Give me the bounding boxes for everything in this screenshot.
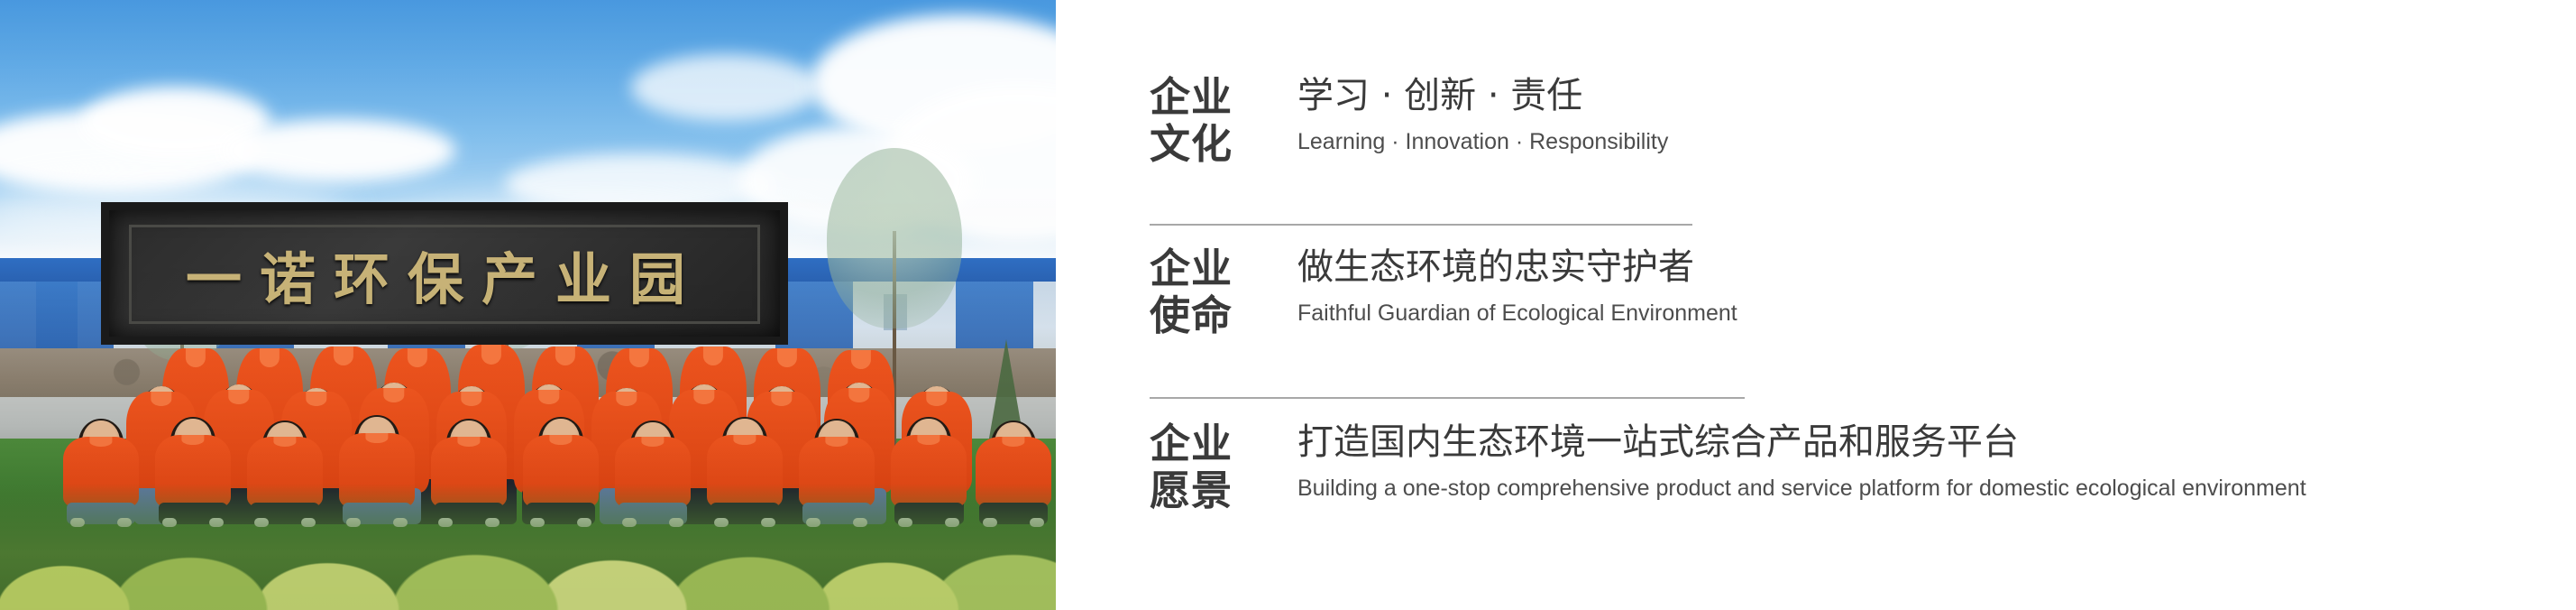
block-label-corporate-mission: 企业 使命 [1150, 245, 1285, 339]
cloud-icon [631, 54, 820, 121]
block-headline-cn: 做生态环境的忠实守护者 [1297, 245, 1737, 290]
employee-group [0, 226, 1056, 523]
block-label-corporate-vision: 企业 愿景 [1150, 421, 1285, 514]
block-text-group: 学习 · 创新 · 责任 Learning · Innovation · Res… [1285, 74, 1668, 158]
culture-text-panel: 企业 文化 学习 · 创新 · 责任 Learning · Innovation… [1056, 0, 2576, 610]
section-divider [1150, 224, 1692, 226]
block-headline-cn: 学习 · 创新 · 责任 [1297, 74, 1668, 118]
block-text-group: 做生态环境的忠实守护者 Faithful Guardian of Ecologi… [1285, 245, 1737, 329]
block-text-group: 打造国内生态环境一站式综合产品和服务平台 Building a one-stop… [1285, 421, 2306, 504]
block-headline-cn: 打造国内生态环境一站式综合产品和服务平台 [1297, 421, 2306, 465]
cloud-icon [221, 119, 455, 182]
section-divider [1150, 397, 1745, 399]
block-headline-en: Learning · Innovation · Responsibility [1297, 127, 1668, 158]
block-headline-en: Building a one-stop comprehensive produc… [1297, 474, 2306, 504]
company-group-photo: 一诺环保产业园 [0, 0, 1056, 610]
culture-blocks: 企业 文化 学习 · 创新 · 责任 Learning · Innovation… [1150, 0, 2576, 610]
photo-scene: 一诺环保产业园 [0, 0, 1056, 610]
culture-block-corporate-mission: 企业 使命 做生态环境的忠实守护者 Faithful Guardian of E… [1150, 245, 1737, 339]
block-headline-en: Faithful Guardian of Ecological Environm… [1297, 299, 1737, 329]
flowering-hedge [0, 484, 1056, 610]
block-label-corporate-culture: 企业 文化 [1150, 74, 1285, 168]
culture-block-corporate-vision: 企业 愿景 打造国内生态环境一站式综合产品和服务平台 Building a on… [1150, 421, 2306, 514]
culture-block-corporate-culture: 企业 文化 学习 · 创新 · 责任 Learning · Innovation… [1150, 74, 1668, 168]
corporate-culture-banner: 一诺环保产业园 [0, 0, 2576, 610]
